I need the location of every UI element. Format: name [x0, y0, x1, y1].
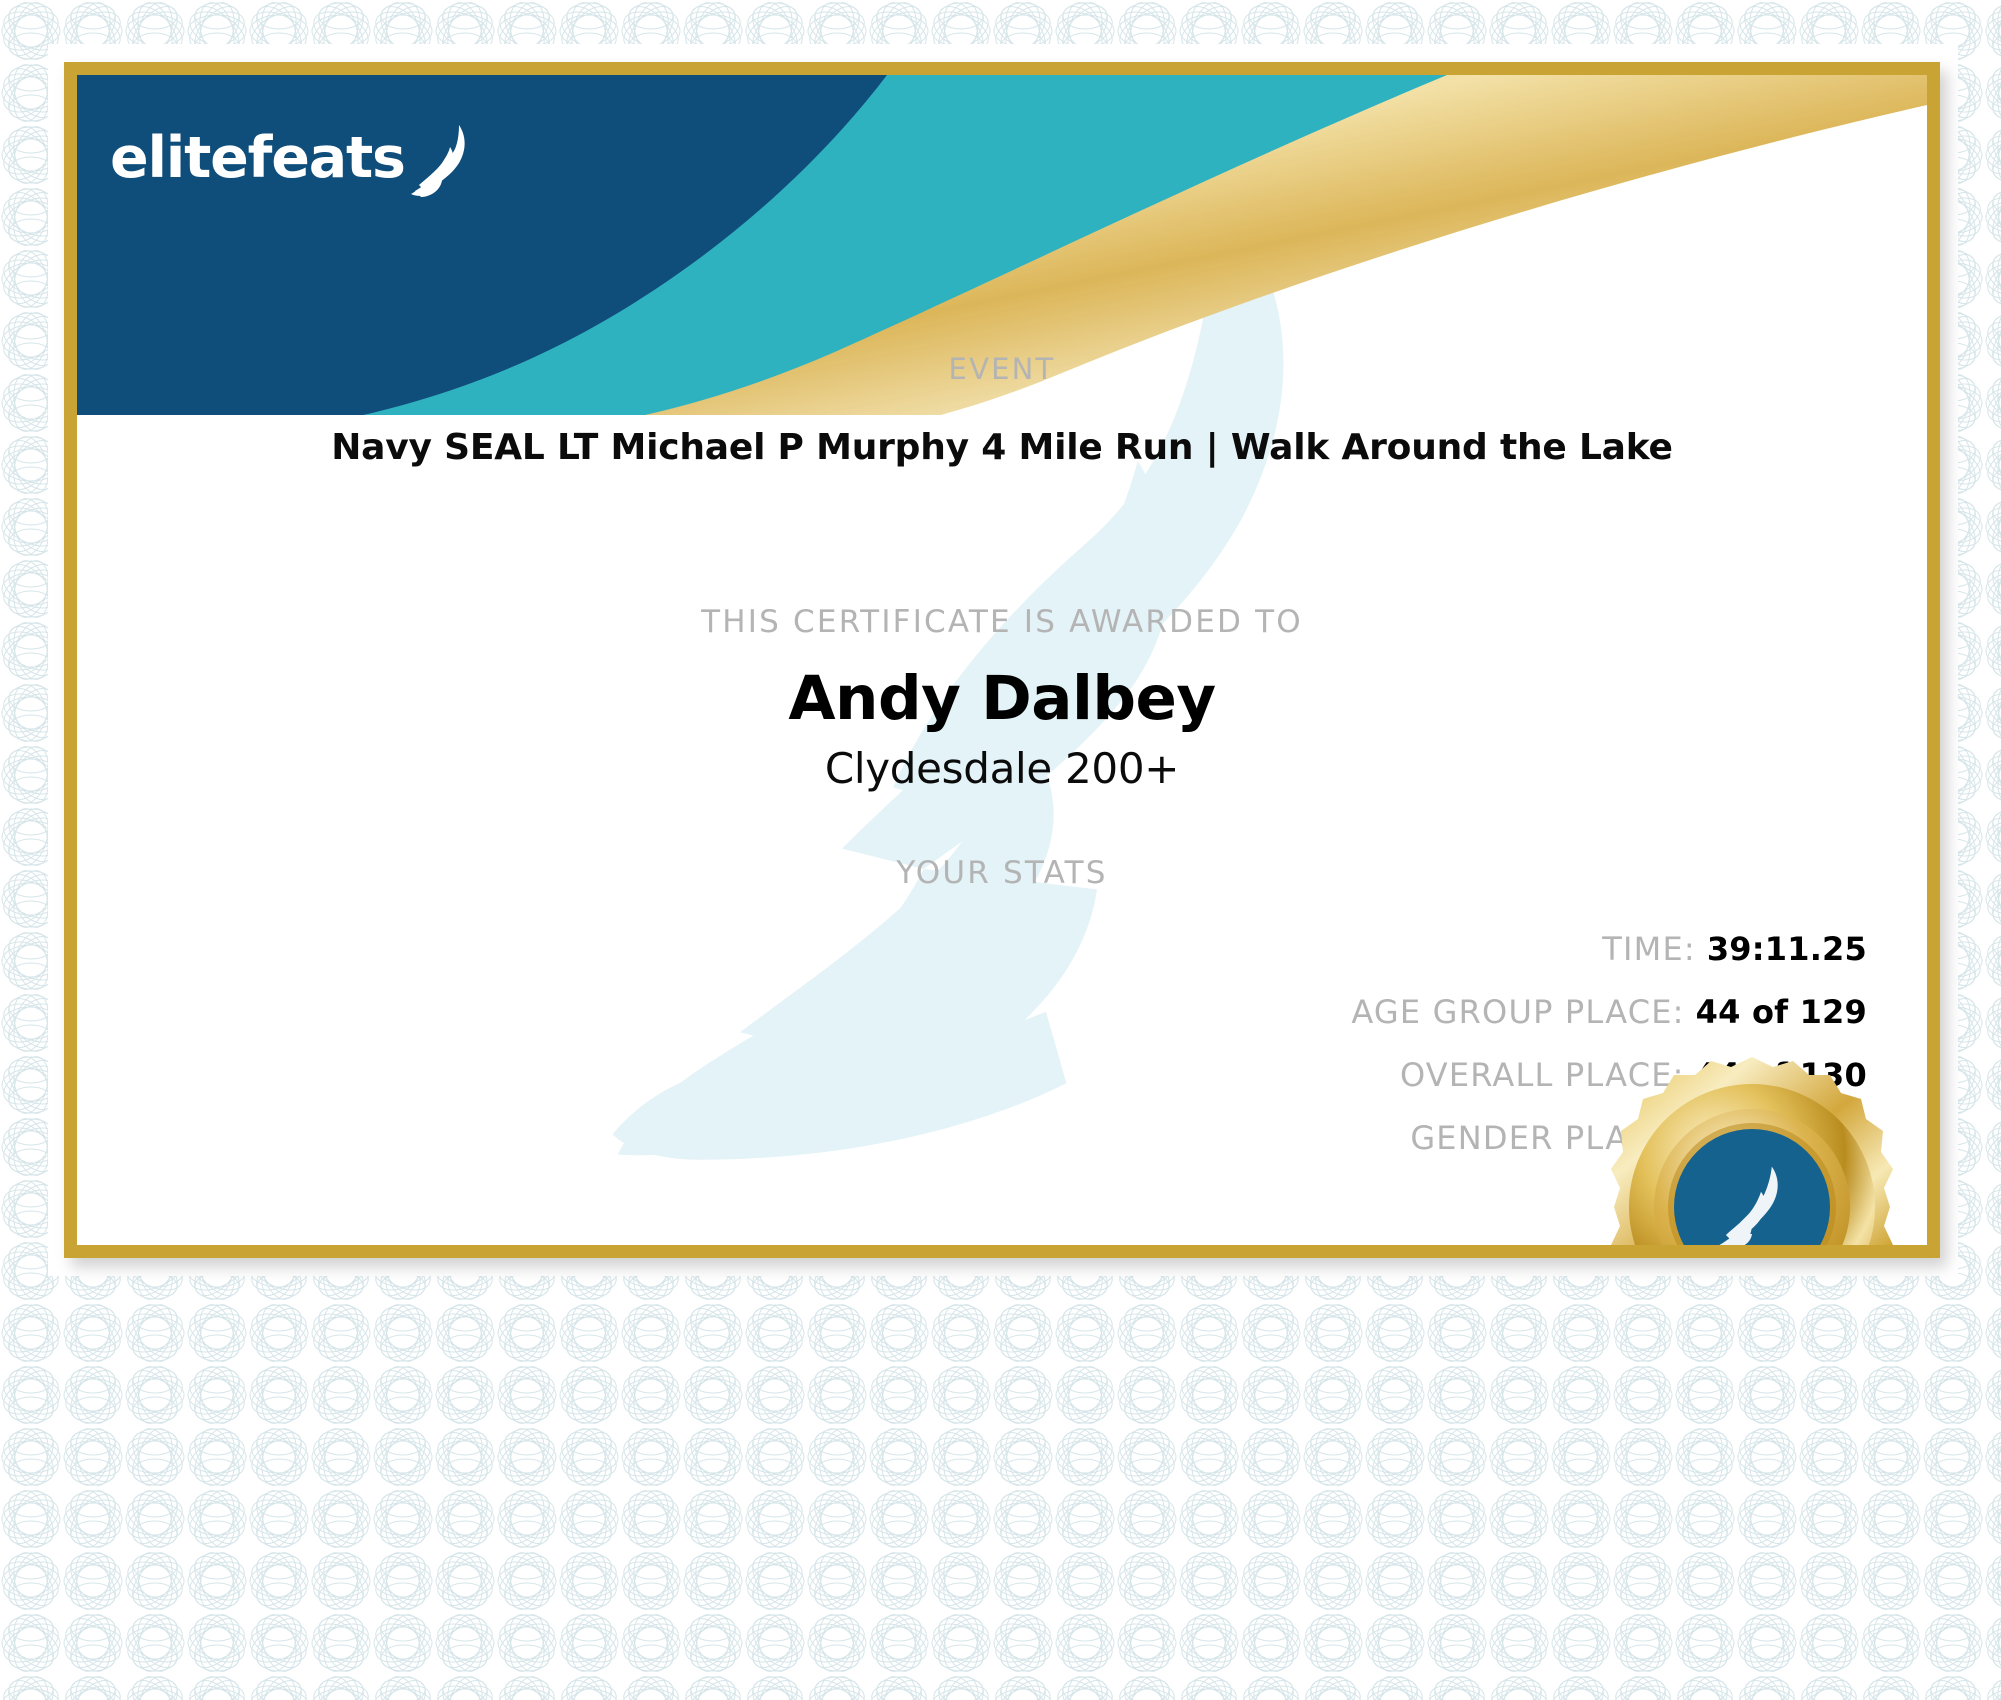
certificate-content: EVENT Navy SEAL LT Michael P Murphy 4 Mi…: [77, 75, 1927, 1245]
event-label: EVENT: [77, 352, 1927, 386]
finisher-medal: 2018: [1557, 1057, 1940, 1258]
stat-value: 39:11.25: [1707, 930, 1867, 968]
stat-row: AGE GROUP PLACE: 44 of 129: [77, 993, 1867, 1031]
brand-logo: elitefeats: [110, 123, 481, 187]
recipient-division: Clydesdale 200+: [77, 744, 1927, 793]
stat-key: TIME:: [1602, 930, 1696, 968]
event-title: Navy SEAL LT Michael P Murphy 4 Mile Run…: [77, 427, 1927, 468]
medal-ribbon: [1661, 1257, 1843, 1258]
stat-row: TIME: 39:11.25: [77, 930, 1867, 968]
certificate-page: elitefeats EVENT Navy SEAL LT Michael P …: [0, 0, 2001, 1700]
brand-name: elitefeats: [110, 130, 405, 187]
stat-key: AGE GROUP PLACE:: [1351, 993, 1684, 1031]
recipient-name: Andy Dalbey: [77, 663, 1927, 734]
your-stats-label: YOUR STATS: [77, 855, 1927, 891]
winged-foot-icon: [409, 123, 481, 197]
awarded-to-label: THIS CERTIFICATE IS AWARDED TO: [77, 604, 1927, 640]
certificate-frame: elitefeats EVENT Navy SEAL LT Michael P …: [64, 62, 1940, 1258]
stat-value: 44 of 129: [1696, 993, 1867, 1031]
